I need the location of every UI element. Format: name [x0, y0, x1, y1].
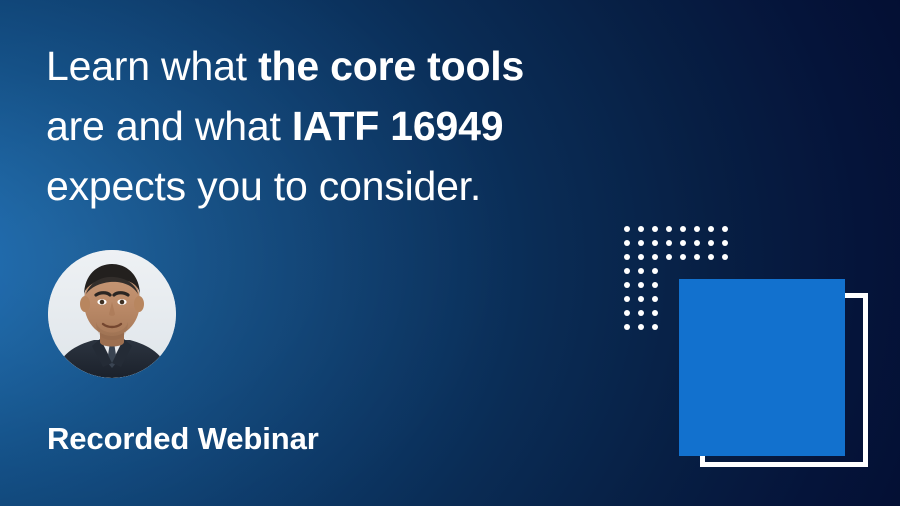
dot-grid-dot [652, 226, 658, 232]
dot-grid-dot [722, 240, 728, 246]
dot-grid-dot [624, 268, 630, 274]
dot-grid-dot [708, 240, 714, 246]
dot-grid-dot [624, 324, 630, 330]
dot-grid-dot [722, 254, 728, 260]
dot-grid-dot [680, 254, 686, 260]
dot-grid-dot [638, 240, 644, 246]
avatar [48, 250, 176, 378]
dot-grid-dot [638, 324, 644, 330]
dot-grid-dot [680, 240, 686, 246]
dot-grid-dot [638, 296, 644, 302]
headline-line-1: Learn what the core tools [46, 36, 646, 96]
dot-grid-dot [624, 310, 630, 316]
dot-grid-dot [624, 240, 630, 246]
accent-square [679, 279, 845, 456]
webinar-promo-slide: Learn what the core tools are and what I… [0, 0, 900, 506]
dot-grid-dot [652, 324, 658, 330]
dot-grid-row [624, 226, 736, 240]
dot-grid-dot [666, 240, 672, 246]
headline-line-2-normal: are and what [46, 103, 292, 149]
page-title: Learn what the core tools are and what I… [46, 36, 646, 216]
dot-grid-dot [638, 282, 644, 288]
dot-grid-dot [624, 296, 630, 302]
headline-line-3: expects you to consider. [46, 156, 646, 216]
dot-grid-dot [680, 226, 686, 232]
dot-grid-dot [652, 240, 658, 246]
dot-grid-dot [708, 254, 714, 260]
dot-grid-dot [624, 226, 630, 232]
dot-grid-dot [652, 282, 658, 288]
dot-grid-dot [652, 254, 658, 260]
dot-grid-dot [694, 226, 700, 232]
dot-grid-dot [722, 226, 728, 232]
dot-grid-dot [638, 226, 644, 232]
dot-grid-row [624, 254, 736, 268]
headline-line-2-emphasis: IATF 16949 [292, 103, 503, 149]
dot-grid-dot [652, 268, 658, 274]
dot-grid-dot [624, 282, 630, 288]
dot-grid-dot [638, 310, 644, 316]
headline-line-1-normal: Learn what [46, 43, 258, 89]
dot-grid-dot [624, 254, 630, 260]
dot-grid-dot [666, 254, 672, 260]
dot-grid-dot [652, 310, 658, 316]
dot-grid-dot [694, 240, 700, 246]
dot-grid-dot [694, 254, 700, 260]
dot-grid-row [624, 240, 736, 254]
speaker-portrait-icon [48, 250, 176, 378]
status-badge: Recorded Webinar [47, 420, 319, 458]
dot-grid-dot [666, 226, 672, 232]
dot-grid-dot [638, 268, 644, 274]
dot-grid-dot [708, 226, 714, 232]
headline-line-2: are and what IATF 16949 [46, 96, 646, 156]
headline-line-3-normal: expects you to consider. [46, 163, 481, 209]
headline-line-1-emphasis: the core tools [258, 43, 524, 89]
dot-grid-dot [652, 296, 658, 302]
dot-grid-dot [638, 254, 644, 260]
